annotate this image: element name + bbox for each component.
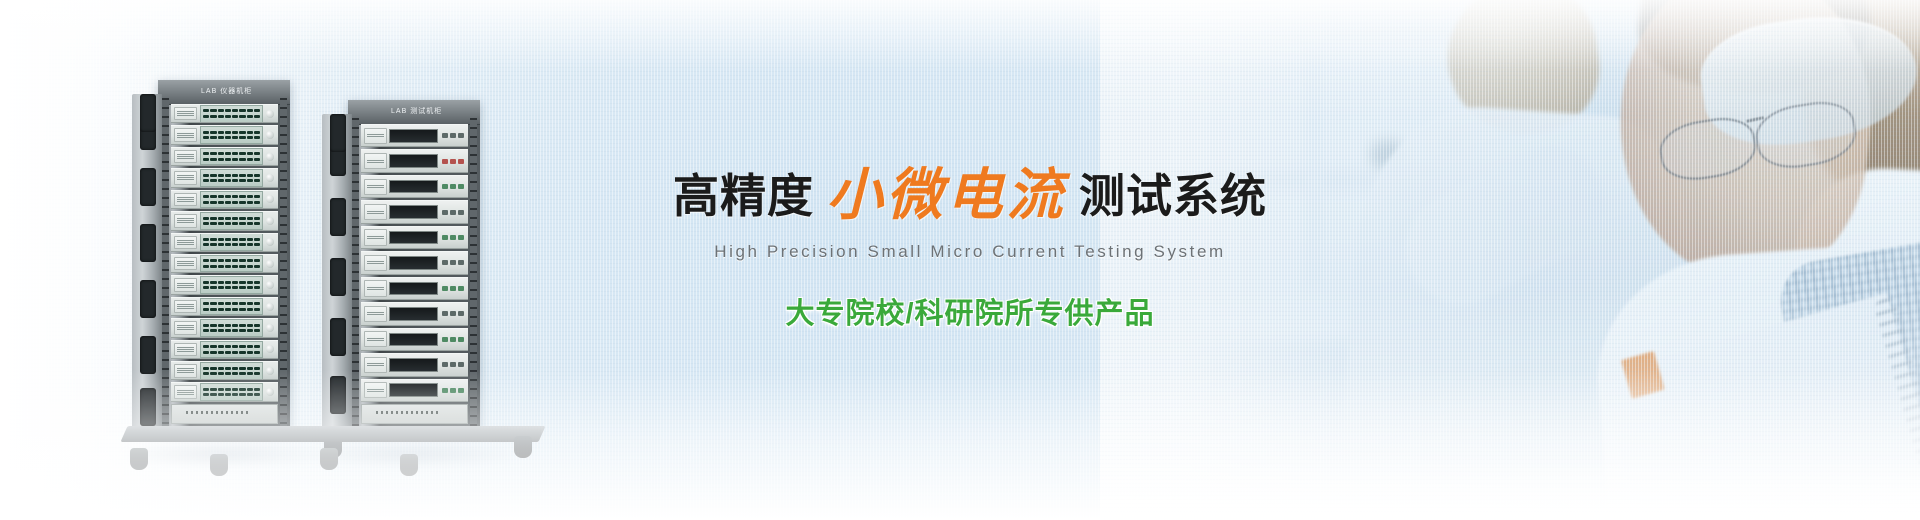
module-control-block (174, 214, 197, 227)
rack-module (171, 318, 278, 337)
instrument-display (389, 333, 438, 347)
module-control-block (174, 171, 197, 184)
instrument-module (361, 149, 468, 172)
module-control-block (364, 153, 387, 169)
module-control-block (364, 331, 387, 347)
rack-vent-slot (140, 94, 156, 132)
rack-right-module-stack (361, 124, 468, 402)
instrument-keypad (442, 235, 464, 240)
instrument-keypad (442, 286, 464, 291)
rack-module (171, 168, 278, 187)
rack-module (171, 233, 278, 252)
instrument-keypad (442, 159, 464, 164)
banner-subtitle-chinese: 大专院校/科研院所专供产品 (650, 290, 1290, 332)
rack-module (171, 190, 278, 209)
headline-accent: 小微电流 (827, 165, 1067, 227)
rack-module (171, 147, 278, 166)
instrument-module (361, 251, 468, 274)
module-control-block (364, 280, 387, 296)
headline-suffix: 测试系统 (1079, 170, 1267, 222)
module-knob (266, 324, 274, 332)
rack-vent-slot (330, 318, 346, 356)
instrument-module (361, 302, 468, 325)
module-knob (266, 238, 274, 246)
instrument-display (389, 231, 438, 245)
module-knob (266, 131, 274, 139)
module-control-block (364, 229, 387, 245)
rack-vent-slot (330, 114, 346, 152)
module-knob (266, 260, 274, 268)
instrument-keypad (442, 337, 464, 342)
module-control-block (364, 306, 387, 322)
instrument-display (389, 129, 438, 143)
rack-vent-slot (330, 198, 346, 236)
module-channel-array (200, 298, 263, 316)
module-channel-array (200, 255, 263, 273)
module-channel-array (200, 319, 263, 337)
product-banner: LAB 仪器机柜 (0, 0, 1920, 520)
instrument-module (361, 328, 468, 351)
module-control-block (174, 343, 197, 356)
module-control-block (174, 150, 197, 163)
module-channel-array (200, 105, 263, 123)
module-channel-array (200, 212, 263, 230)
module-knob (266, 345, 274, 353)
module-control-block (174, 236, 197, 249)
rack-left-brand-label: LAB 仪器机柜 (201, 86, 252, 96)
rack-module (171, 125, 278, 144)
instrument-display (389, 205, 438, 219)
instrument-keypad (442, 362, 464, 367)
instrument-module (361, 175, 468, 198)
module-knob (266, 153, 274, 161)
rack-module (171, 104, 278, 123)
instrument-display (389, 256, 438, 270)
module-control-block (174, 107, 197, 120)
instrument-keypad (442, 311, 464, 316)
module-knob (266, 217, 274, 225)
module-channel-array (200, 233, 263, 251)
rack-module (171, 275, 278, 294)
instrument-display (389, 307, 438, 321)
banner-subtitle-english: High Precision Small Micro Current Testi… (650, 242, 1290, 262)
instrument-module (361, 200, 468, 223)
module-control-block (174, 321, 197, 334)
module-control-block (364, 204, 387, 220)
module-knob (266, 110, 274, 118)
module-channel-array (200, 169, 263, 187)
module-control-block (364, 255, 387, 271)
module-channel-array (200, 276, 263, 294)
module-control-block (174, 193, 197, 206)
module-control-block (174, 278, 197, 291)
module-knob (266, 195, 274, 203)
rack-right-brand-label: LAB 测试机柜 (391, 106, 442, 116)
instrument-keypad (442, 210, 464, 215)
instrument-display (389, 154, 438, 168)
instrument-display (389, 180, 438, 194)
module-control-block (174, 128, 197, 141)
module-control-block (174, 300, 197, 313)
banner-text-block: 高精度 小微电流 测试系统 High Precision Small Micro… (650, 168, 1290, 332)
module-knob (266, 174, 274, 182)
instrument-module (361, 124, 468, 147)
module-channel-array (200, 341, 263, 359)
rack-vent-slot (140, 280, 156, 318)
module-knob (266, 281, 274, 289)
background-top-fade (0, 0, 1920, 70)
rack-vent-slot (140, 224, 156, 262)
module-channel-array (200, 126, 263, 144)
instrument-module (361, 277, 468, 300)
instrument-display (389, 282, 438, 296)
rack-vent-slot (140, 336, 156, 374)
rack-module (171, 297, 278, 316)
rack-module (171, 254, 278, 273)
module-control-block (364, 128, 387, 144)
module-knob (266, 303, 274, 311)
module-control-block (174, 257, 197, 270)
module-channel-array (200, 148, 263, 166)
rack-vent-slot (140, 168, 156, 206)
instrument-keypad (442, 260, 464, 265)
background-bottom-fade (0, 370, 1920, 520)
instrument-module (361, 226, 468, 249)
module-channel-array (200, 191, 263, 209)
rack-module (171, 340, 278, 359)
banner-headline: 高精度 小微电流 测试系统 (650, 168, 1290, 224)
module-control-block (364, 179, 387, 195)
instrument-keypad (442, 133, 464, 138)
instrument-keypad (442, 184, 464, 189)
rack-left-module-stack (171, 104, 278, 402)
rack-module (171, 211, 278, 230)
headline-prefix: 高精度 (673, 170, 814, 222)
rack-vent-slot (330, 258, 346, 296)
